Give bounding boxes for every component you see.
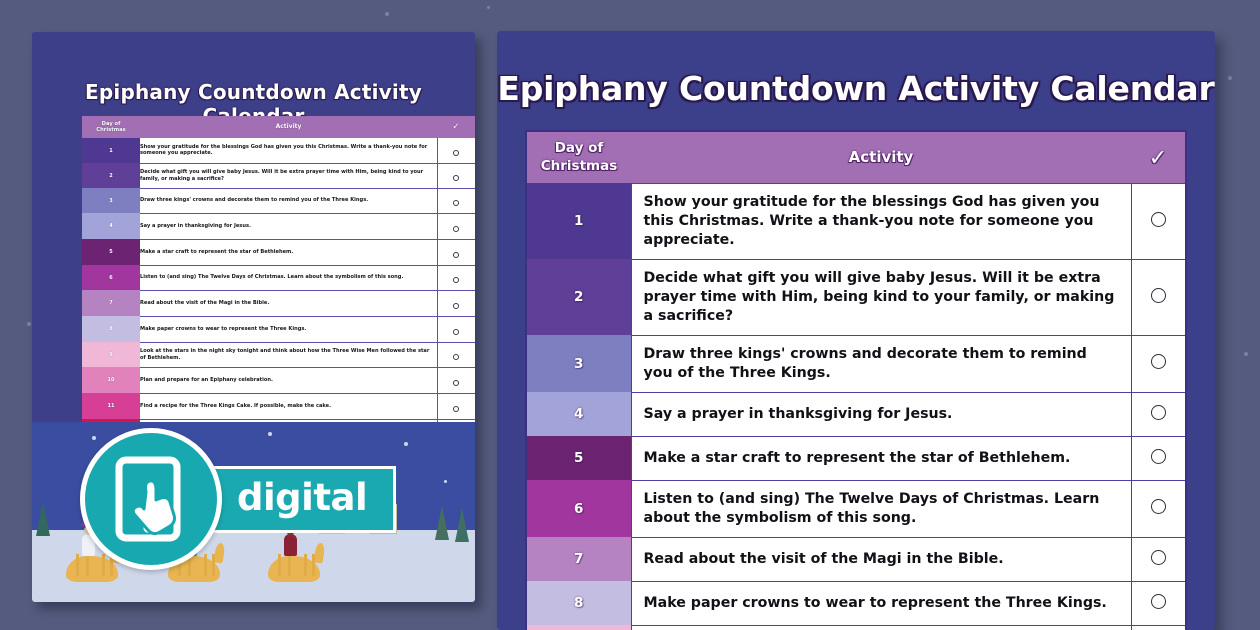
thumbnail-activity-cell: Plan and prepare for an Epiphany celebra… (140, 367, 437, 393)
column-header-day-line2: Christmas (541, 158, 618, 174)
table-row: 3Draw three kings' crowns and decorate t… (526, 335, 1186, 392)
thumbnail-day-cell: 10 (82, 367, 140, 393)
checkbox-circle-icon[interactable] (1151, 354, 1166, 369)
checkbox-circle-icon[interactable] (1151, 550, 1166, 565)
thumbnail-activity-cell: Decide what gift you will give baby Jesu… (140, 163, 437, 188)
thumbnail-col-check: ✓ (437, 116, 475, 138)
backdrop-star (487, 6, 490, 9)
thumbnail-day-cell: 2 (82, 163, 140, 188)
checkbox-circle-icon[interactable] (1151, 212, 1166, 227)
thumbnail-check-cell[interactable] (437, 213, 475, 239)
check-cell[interactable] (1131, 259, 1186, 335)
thumbnail-check-cell[interactable] (437, 188, 475, 213)
page-title: Epiphany Countdown Activity Calendar (497, 69, 1215, 108)
backdrop-star (27, 322, 31, 326)
table-row: 7Read about the visit of the Magi in the… (526, 537, 1186, 581)
table-row: 1Show your gratitude for the blessings G… (82, 138, 475, 163)
table-row: 9Look at the stars in the night sky toni… (82, 342, 475, 367)
day-cell: 1 (526, 183, 631, 259)
day-cell: 7 (526, 537, 631, 581)
thumbnail-check-cell[interactable] (437, 367, 475, 393)
checkbox-circle-icon[interactable] (453, 175, 459, 181)
day-cell: 2 (526, 259, 631, 335)
checkbox-circle-icon[interactable] (453, 226, 459, 232)
checkmark-icon: ✓ (1149, 146, 1167, 171)
checkbox-circle-icon[interactable] (1151, 594, 1166, 609)
thumbnail-day-cell: 4 (82, 213, 140, 239)
table-row: 10Plan and prepare for an Epiphany celeb… (82, 367, 475, 393)
check-cell[interactable] (1131, 335, 1186, 392)
checkbox-circle-icon[interactable] (453, 200, 459, 206)
activity-cell: Show your gratitude for the blessings Go… (631, 183, 1131, 259)
activity-cell: Listen to (and sing) The Twelve Days of … (631, 480, 1131, 537)
table-row: 3Draw three kings' crowns and decorate t… (82, 188, 475, 213)
table-row: 4Say a prayer in thanksgiving for Jesus. (526, 392, 1186, 436)
activity-cell: Draw three kings' crowns and decorate th… (631, 335, 1131, 392)
backdrop-star (385, 12, 389, 16)
checkbox-circle-icon[interactable] (1151, 288, 1166, 303)
table-row: 11Find a recipe for the Three Kings Cake… (82, 393, 475, 419)
activity-cell: Decide what gift you will give baby Jesu… (631, 259, 1131, 335)
checkbox-circle-icon[interactable] (1151, 405, 1166, 420)
table-row: 9Look at the stars in the night sky toni… (526, 625, 1186, 630)
thumbnail-day-cell: 11 (82, 393, 140, 419)
table-row: 7Read about the visit of the Magi in the… (82, 290, 475, 316)
thumbnail-activity-table: Day of Christmas Activity ✓ 1Show your g… (82, 116, 475, 446)
thumbnail-activity-cell: Look at the stars in the night sky tonig… (140, 342, 437, 367)
day-cell: 5 (526, 436, 631, 480)
activity-cell: Make a star craft to represent the star … (631, 436, 1131, 480)
day-cell: 8 (526, 581, 631, 625)
thumbnail-day-cell: 9 (82, 342, 140, 367)
table-row: 5Make a star craft to represent the star… (526, 436, 1186, 480)
thumbnail-check-cell[interactable] (437, 393, 475, 419)
checkbox-circle-icon[interactable] (453, 354, 459, 360)
thumbnail-check-cell[interactable] (437, 290, 475, 316)
thumbnail-check-cell[interactable] (437, 265, 475, 290)
table-row: 8Make paper crowns to wear to represent … (526, 581, 1186, 625)
thumbnail-activity-cell: Say a prayer in thanksgiving for Jesus. (140, 213, 437, 239)
checkbox-circle-icon[interactable] (453, 406, 459, 412)
activity-cell: Make paper crowns to wear to represent t… (631, 581, 1131, 625)
table-row: 1Show your gratitude for the blessings G… (526, 183, 1186, 259)
check-cell[interactable] (1131, 537, 1186, 581)
thumbnail-day-cell: 7 (82, 290, 140, 316)
tree-icon (435, 506, 449, 540)
thumbnail-col-day-line2: Christmas (96, 127, 125, 133)
check-cell[interactable] (1131, 581, 1186, 625)
thumbnail-day-cell: 8 (82, 316, 140, 342)
thumbnail-activity-cell: Find a recipe for the Three Kings Cake. … (140, 393, 437, 419)
checkbox-circle-icon[interactable] (1151, 499, 1166, 514)
thumbnail-activity-cell: Draw three kings' crowns and decorate th… (140, 188, 437, 213)
column-header-check: ✓ (1131, 131, 1186, 183)
main-preview-card[interactable]: Epiphany Countdown Activity Calendar Day… (497, 31, 1215, 630)
digital-badge: digital (80, 428, 396, 570)
backdrop-star (1228, 76, 1232, 80)
column-header-activity: Activity (631, 131, 1131, 183)
backdrop-star (1244, 352, 1248, 356)
thumbnail-col-day-line1: Day of (102, 121, 121, 127)
thumbnail-activity-cell: Make paper crowns to wear to represent t… (140, 316, 437, 342)
table-row: 8Make paper crowns to wear to represent … (82, 316, 475, 342)
thumbnail-day-cell: 3 (82, 188, 140, 213)
checkbox-circle-icon[interactable] (453, 380, 459, 386)
tree-icon (36, 502, 50, 536)
checkbox-circle-icon[interactable] (453, 277, 459, 283)
day-cell: 6 (526, 480, 631, 537)
thumbnail-check-cell[interactable] (437, 163, 475, 188)
thumbnail-check-cell[interactable] (437, 342, 475, 367)
table-header-row: Day of Christmas Activity ✓ (526, 131, 1186, 183)
tablet-touch-icon (113, 456, 189, 542)
checkbox-circle-icon[interactable] (453, 303, 459, 309)
check-cell[interactable] (1131, 625, 1186, 630)
thumbnail-table-body: 1Show your gratitude for the blessings G… (82, 138, 475, 445)
check-cell[interactable] (1131, 436, 1186, 480)
checkbox-circle-icon[interactable] (453, 329, 459, 335)
check-cell[interactable] (1131, 392, 1186, 436)
thumbnail-day-cell: 1 (82, 138, 140, 163)
table-row: 6Listen to (and sing) The Twelve Days of… (82, 265, 475, 290)
camel-leg (76, 554, 79, 576)
thumbnail-activity-cell: Show your gratitude for the blessings Go… (140, 138, 437, 163)
activity-cell: Say a prayer in thanksgiving for Jesus. (631, 392, 1131, 436)
thumbnail-day-cell: 6 (82, 265, 140, 290)
thumbnail-preview-card[interactable]: Epiphany Countdown Activity Calendar Day… (32, 32, 475, 602)
day-cell: 3 (526, 335, 631, 392)
tree-icon (455, 508, 469, 542)
table-row: 2Decide what gift you will give baby Jes… (526, 259, 1186, 335)
thumbnail-day-cell: 5 (82, 239, 140, 265)
digital-badge-circle (80, 428, 222, 570)
column-header-day-line1: Day of (555, 140, 604, 156)
snowflake-icon (404, 442, 408, 446)
checkbox-circle-icon[interactable] (1151, 449, 1166, 464)
thumbnail-activity-cell: Read about the visit of the Magi in the … (140, 290, 437, 316)
thumbnail-check-cell[interactable] (437, 316, 475, 342)
day-cell: 9 (526, 625, 631, 630)
table-row: 6Listen to (and sing) The Twelve Days of… (526, 480, 1186, 537)
thumbnail-activity-cell: Listen to (and sing) The Twelve Days of … (140, 265, 437, 290)
check-cell[interactable] (1131, 183, 1186, 259)
thumbnail-table-header-row: Day of Christmas Activity ✓ (82, 116, 475, 138)
table-row: 2Decide what gift you will give baby Jes… (82, 163, 475, 188)
thumbnail-activity-cell: Make a star craft to represent the star … (140, 239, 437, 265)
activity-cell: Read about the visit of the Magi in the … (631, 537, 1131, 581)
table-row: 4Say a prayer in thanksgiving for Jesus. (82, 213, 475, 239)
activity-cell: Look at the stars in the night sky tonig… (631, 625, 1131, 630)
table-body: 1Show your gratitude for the blessings G… (526, 183, 1186, 630)
thumbnail-check-cell[interactable] (437, 239, 475, 265)
activity-table: Day of Christmas Activity ✓ 1Show your g… (525, 130, 1187, 630)
checkmark-icon: ✓ (452, 122, 460, 133)
thumbnail-check-cell[interactable] (437, 138, 475, 163)
check-cell[interactable] (1131, 480, 1186, 537)
checkbox-circle-icon[interactable] (453, 150, 459, 156)
thumbnail-col-day: Day of Christmas (82, 116, 140, 138)
table-row: 5Make a star craft to represent the star… (82, 239, 475, 265)
checkbox-circle-icon[interactable] (453, 252, 459, 258)
day-cell: 4 (526, 392, 631, 436)
column-header-day: Day of Christmas (526, 131, 631, 183)
thumbnail-col-activity: Activity (140, 116, 437, 138)
